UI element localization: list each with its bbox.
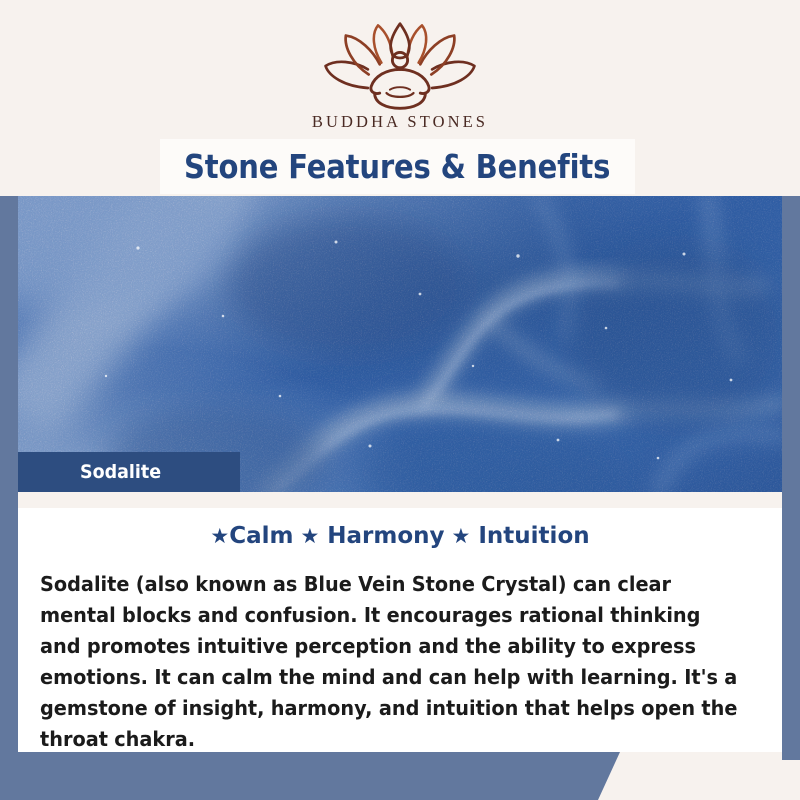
infographic-poster: BUDDHA STONES Stone Features & Benefits: [0, 0, 800, 800]
stone-description: Sodalite (also known as Blue Vein Stone …: [40, 569, 747, 755]
frame-left-accent-bar: [0, 150, 18, 800]
keyword-intuition: Intuition: [478, 523, 589, 549]
frame-bottom-accent-bar: [0, 752, 620, 800]
brand-name: BUDDHA STONES: [312, 112, 488, 132]
stone-name-label: Sodalite: [80, 461, 161, 483]
keyword-list: ★Calm★ Harmony★ Intuition: [18, 523, 782, 549]
brand-logo: BUDDHA STONES: [18, 22, 782, 132]
star-icon-3: ★: [452, 524, 471, 548]
keyword-harmony: Harmony: [327, 523, 444, 549]
page-title: Stone Features & Benefits: [184, 147, 610, 186]
keyword-calm: Calm: [229, 523, 293, 549]
header-section: BUDDHA STONES Stone Features & Benefits: [0, 0, 800, 196]
lotus-meditation-figure-icon: [315, 22, 485, 110]
photo-bottom-cream-strip: [18, 492, 782, 508]
content-section: ★Calm★ Harmony★ Intuition Sodalite (also…: [18, 508, 782, 752]
page-title-plaque: Stone Features & Benefits: [160, 139, 635, 194]
star-icon-2: ★: [300, 524, 319, 548]
stone-photo: [18, 196, 782, 492]
stone-name-bar: Sodalite: [18, 452, 240, 492]
star-icon-1: ★: [210, 524, 229, 548]
